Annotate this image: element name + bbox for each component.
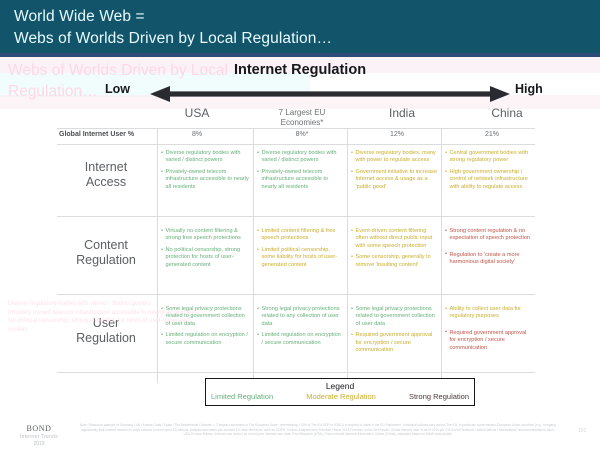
bullet: Central government bodies with strong re… bbox=[445, 150, 533, 165]
bond-subtitle: Internet Trends bbox=[6, 434, 72, 440]
cell-internet-access-china: Central government bodies with strong re… bbox=[445, 150, 533, 195]
row-label-content-regulation: Content Regulation bbox=[57, 238, 155, 268]
bullet: Government initiative to increase Intern… bbox=[351, 169, 437, 191]
global-internet-user-row: Global Internet User % 8% 8%* 12% 21% bbox=[57, 128, 535, 145]
row-label-user-regulation-line1: User bbox=[57, 316, 155, 331]
bullet: Some legal privacy protections related t… bbox=[161, 306, 249, 328]
stat-value-india: 12% bbox=[357, 131, 437, 138]
cell-content-regulation-usa: Virtually no content filtering & strong … bbox=[161, 228, 249, 273]
bullet: Strong legal privacy protections related… bbox=[257, 306, 343, 328]
bullet: Limited regulation on encryption / secur… bbox=[161, 332, 249, 347]
internet-regulation-scale: Internet Regulation Low High bbox=[0, 62, 600, 106]
legend: Legend Limited Regulation Moderate Regul… bbox=[205, 378, 475, 406]
scale-low-label: Low bbox=[105, 82, 130, 96]
bullet: Strong content regulation & no expectati… bbox=[445, 228, 533, 243]
scale-high-label: High bbox=[515, 82, 543, 96]
bullet: Some legal privacy protections related t… bbox=[351, 306, 437, 328]
row-divider-2 bbox=[57, 294, 535, 295]
row-divider-1 bbox=[57, 216, 535, 217]
stat-value-china: 21% bbox=[452, 131, 532, 138]
row-label-internet-access: Internet Access bbox=[57, 160, 155, 190]
cell-user-regulation-china: Ability to collect user data for regulat… bbox=[445, 306, 533, 356]
bullet: Event-driven content filtering often wit… bbox=[351, 228, 437, 250]
legend-item-limited: Limited Regulation bbox=[211, 392, 273, 401]
row-divider-3 bbox=[57, 372, 535, 373]
row-label-content-regulation-line2: Regulation bbox=[57, 253, 155, 268]
bullet: Diverse regulatory bodies with varied / … bbox=[257, 150, 343, 165]
bullet: Some censorship, generally to remove 'in… bbox=[351, 254, 437, 269]
stat-value-usa: 8% bbox=[162, 131, 232, 138]
bullet: Virtually no content filtering & strong … bbox=[161, 228, 249, 243]
bullet: Privately-owned telecom infrastructure a… bbox=[161, 169, 249, 191]
row-label-internet-access-line1: Internet bbox=[57, 160, 155, 175]
row-label-internet-access-line2: Access bbox=[57, 175, 155, 190]
page-number: 191 bbox=[578, 428, 586, 434]
cell-user-regulation-usa: Some legal privacy protections related t… bbox=[161, 306, 249, 351]
bullet: Required government approval for encrypt… bbox=[351, 332, 437, 354]
cell-internet-access-india: Diverse regulatory bodies, many with pow… bbox=[351, 150, 437, 195]
cell-content-regulation-india: Event-driven content filtering often wit… bbox=[351, 228, 437, 273]
column-header-india: India bbox=[342, 106, 462, 120]
cell-user-regulation-india: Some legal privacy protections related t… bbox=[351, 306, 437, 359]
cell-internet-access-eu: Diverse regulatory bodies with varied / … bbox=[257, 150, 343, 195]
row-label-content-regulation-line1: Content bbox=[57, 238, 155, 253]
slide-title-bar: World Wide Web = Webs of Worlds Driven b… bbox=[0, 0, 600, 57]
source-notes: Note: *Based on analysis of Germany / UK… bbox=[78, 423, 558, 437]
legend-item-moderate: Moderate Regulation bbox=[306, 392, 376, 401]
cell-user-regulation-eu: Strong legal privacy protections related… bbox=[257, 306, 343, 351]
row-label-user-regulation: User Regulation bbox=[57, 316, 155, 346]
stat-row-label: Global Internet User % bbox=[59, 131, 134, 138]
bullet: Diverse regulatory bodies with varied / … bbox=[161, 150, 249, 165]
stat-value-eu: 8%* bbox=[257, 131, 347, 138]
bullet: Ability to collect user data for regulat… bbox=[445, 306, 533, 321]
column-header-usa: USA bbox=[137, 106, 257, 120]
bullet: No political censorship, strong protecti… bbox=[161, 247, 249, 269]
column-divider-1 bbox=[157, 128, 158, 383]
bullet: Regulation to 'create a more harmonious … bbox=[445, 252, 533, 267]
cell-internet-access-usa: Diverse regulatory bodies with varied / … bbox=[161, 150, 249, 195]
row-label-user-regulation-line2: Regulation bbox=[57, 331, 155, 346]
bullet: High government ownership / control of n… bbox=[445, 169, 533, 191]
bullet: Limited political censorship, some liabi… bbox=[257, 247, 343, 269]
column-divider-3 bbox=[347, 128, 348, 383]
table-column-headers: USA 7 Largest EU Economies* India China bbox=[57, 106, 535, 128]
bond-year: 2019 bbox=[6, 441, 72, 447]
column-divider-2 bbox=[253, 128, 254, 383]
bullet: Limited content filtering & free speech … bbox=[257, 228, 343, 243]
bullet: Privately-owned telecom infrastructure a… bbox=[257, 169, 343, 191]
cell-content-regulation-eu: Limited content filtering & free speech … bbox=[257, 228, 343, 273]
slide-title-line-1: World Wide Web = bbox=[14, 6, 600, 28]
column-divider-4 bbox=[441, 128, 442, 383]
legend-item-strong: Strong Regulation bbox=[409, 392, 469, 401]
bullet: Diverse regulatory bodies, many with pow… bbox=[351, 150, 437, 165]
slide-title-line-2: Webs of Worlds Driven by Local Regulatio… bbox=[14, 28, 600, 50]
bond-logo: BOND Internet Trends 2019 bbox=[6, 424, 72, 447]
scale-title: Internet Regulation bbox=[0, 62, 600, 78]
column-header-china: China bbox=[447, 106, 567, 120]
bond-wordmark: BOND bbox=[6, 424, 72, 433]
double-headed-arrow-icon bbox=[150, 86, 510, 102]
cell-content-regulation-china: Strong content regulation & no expectati… bbox=[445, 228, 533, 271]
legend-title: Legend bbox=[206, 381, 474, 391]
bullet: Required government approval for encrypt… bbox=[445, 330, 533, 352]
bullet: Limited regulation on encryption / secur… bbox=[257, 332, 343, 347]
